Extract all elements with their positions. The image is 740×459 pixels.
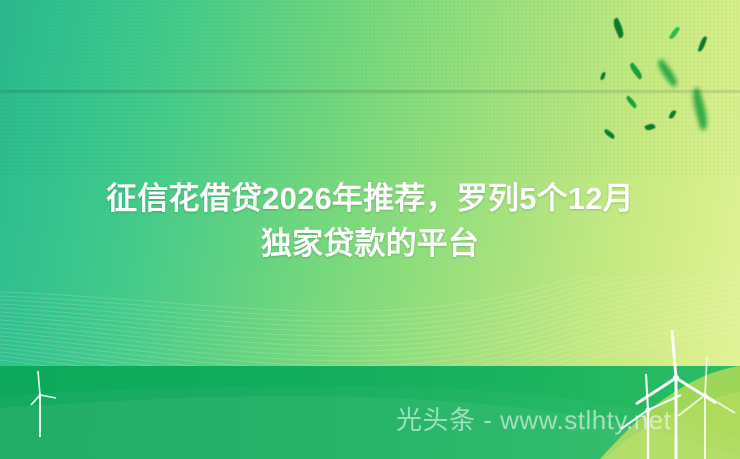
wind-turbine-icon [678,357,735,459]
page-title: 征信花借贷2026年推荐，罗列5个12月 独家贷款的平台 [0,176,740,266]
wind-turbine-icon [31,371,56,437]
watermark-text: 光头条 - www.stlhty.net [396,405,671,435]
promo-banner: 征信花借贷2026年推荐，罗列5个12月 独家贷款的平台 光头条 - www.s… [0,0,740,459]
